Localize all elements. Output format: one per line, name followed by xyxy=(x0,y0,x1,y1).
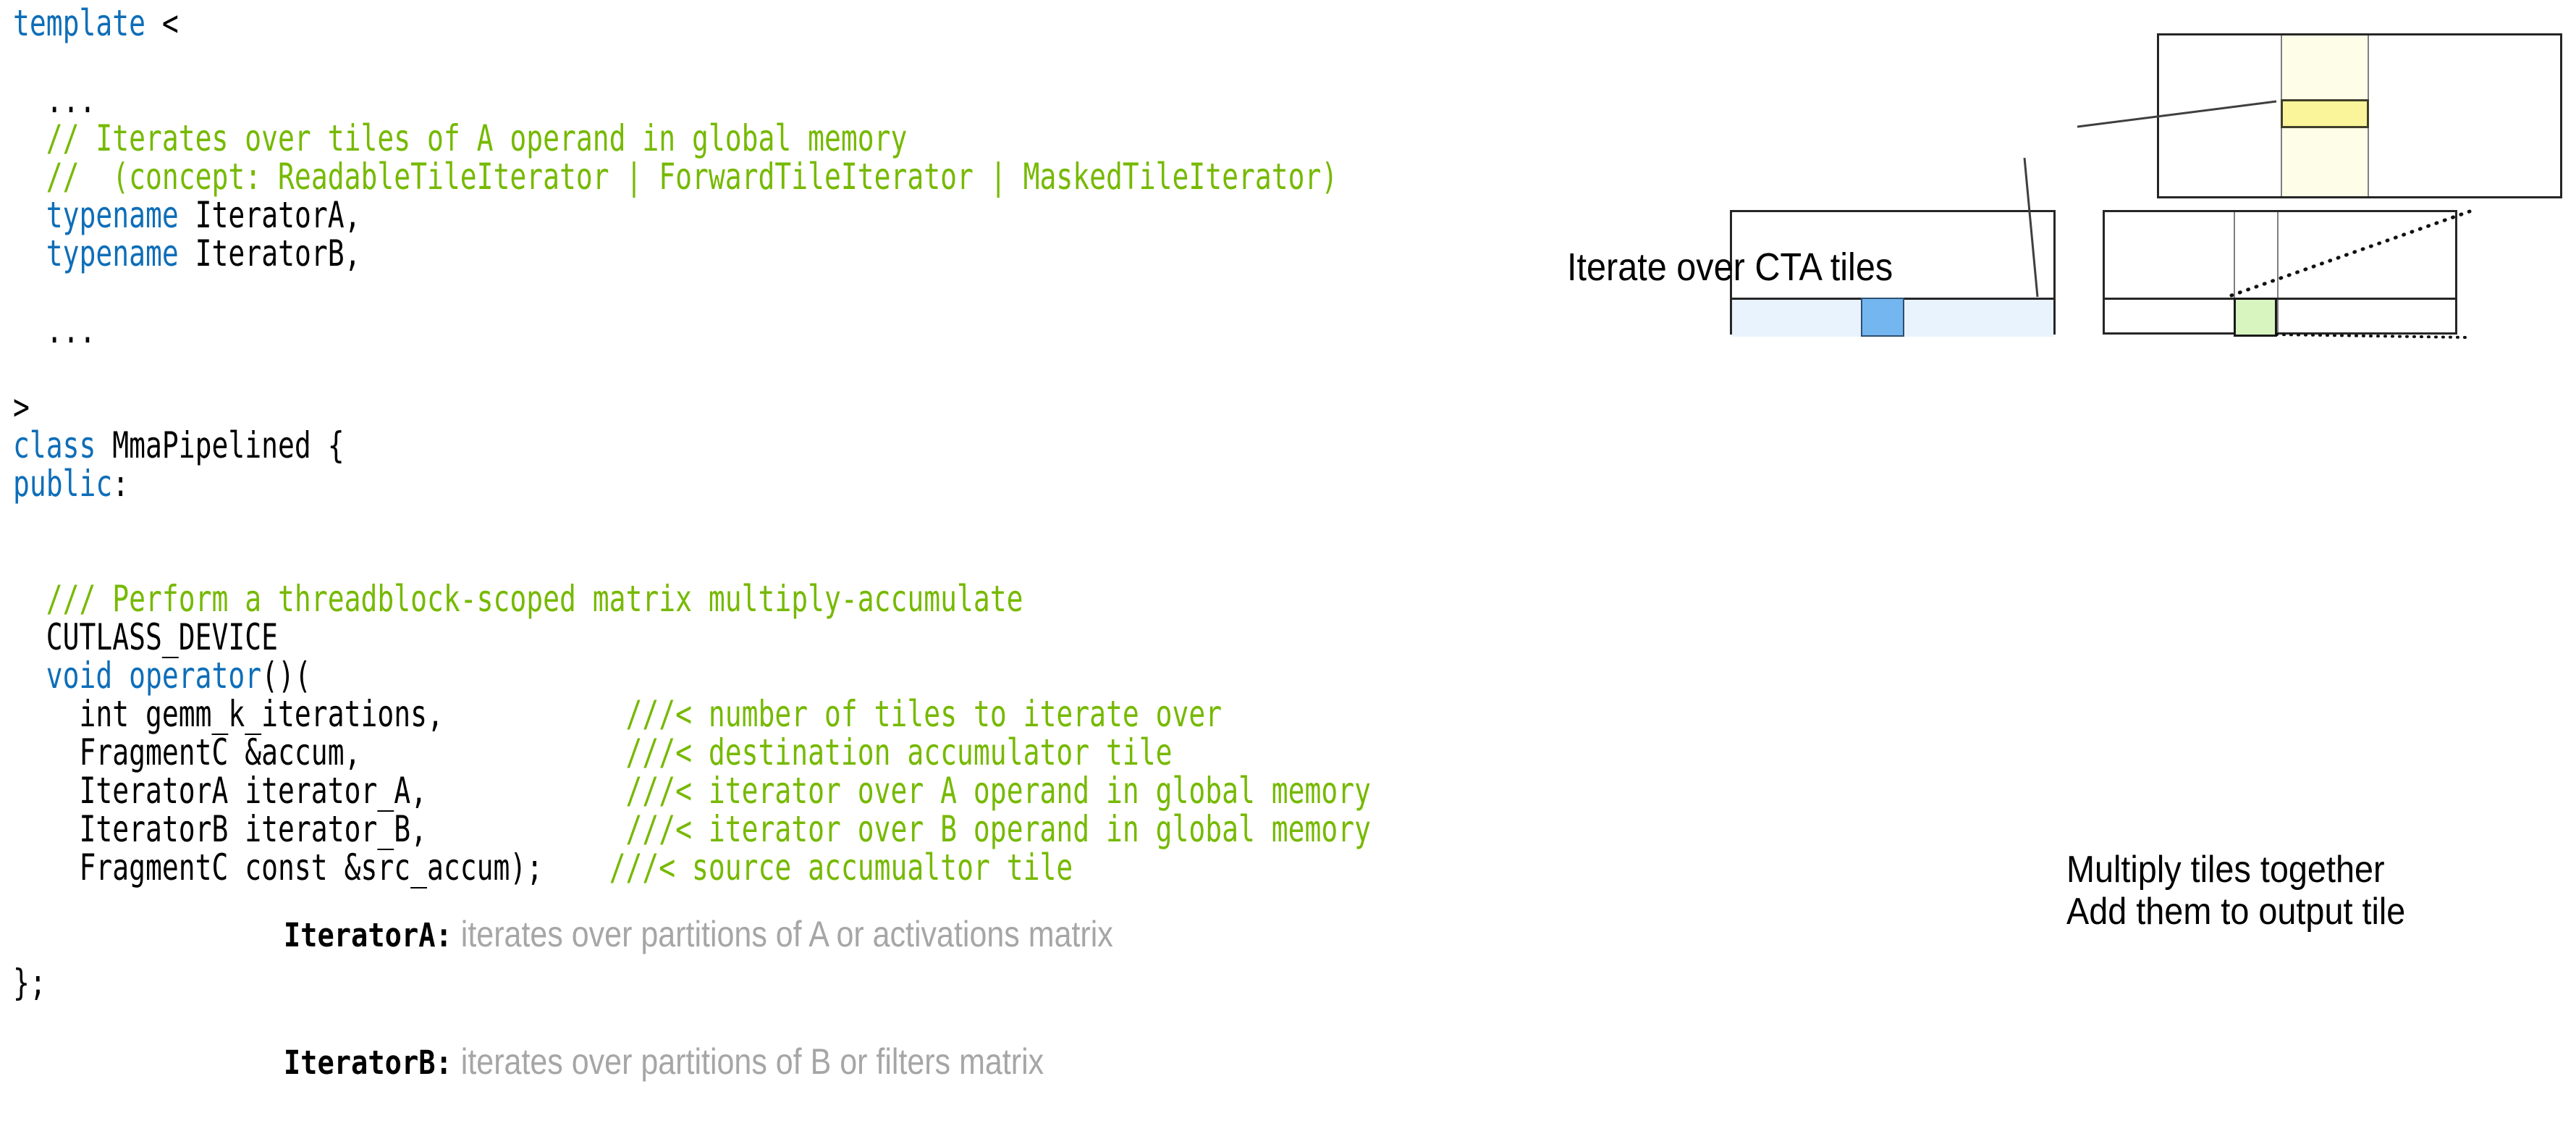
code-token-id: > xyxy=(13,386,30,428)
code-token-id: IteratorA iterator_A, xyxy=(80,770,427,812)
diagram-output-tile xyxy=(2103,210,2457,335)
code-token-id xyxy=(427,808,626,850)
code-token-kw: public xyxy=(13,463,112,505)
code-line: IteratorA iterator_A, ///< iterator over… xyxy=(13,772,1289,810)
b-operand-active-cta-tile xyxy=(2281,99,2369,128)
code-token-id xyxy=(360,731,625,773)
legend-name-iterator-b: IteratorB: xyxy=(284,1043,452,1082)
code-token-cmt: ///< destination accumulator tile xyxy=(625,731,1172,773)
code-token-id: IteratorA, xyxy=(195,194,361,236)
output-divider-horizontal xyxy=(2105,298,2455,300)
code-line xyxy=(13,350,1289,388)
code-line: void operator()( xyxy=(13,657,1289,695)
code-line: ... xyxy=(13,81,1289,119)
code-token-id: ... xyxy=(46,309,96,351)
code-token-kw: typename xyxy=(46,232,195,274)
code-line xyxy=(13,273,1289,311)
tile-diagram-group xyxy=(1694,0,2576,989)
code-listing: template < ... // Iterates over tiles of… xyxy=(13,4,1692,815)
code-token-id: ... xyxy=(46,79,96,121)
legend-row-iterator-b: IteratorB: iterates over partitions of B… xyxy=(250,999,1432,1126)
code-line xyxy=(13,542,1289,580)
code-token-cmt: ///< iterator over B operand in global m… xyxy=(625,808,1371,850)
code-token-id: CUTLASS_DEVICE xyxy=(46,616,278,658)
code-token-id: FragmentC &accum, xyxy=(80,731,361,773)
code-line: > xyxy=(13,388,1289,427)
code-token-id xyxy=(427,770,626,812)
code-line: template < xyxy=(13,4,1289,43)
code-line: // (concept: ReadableTileIterator | Forw… xyxy=(13,158,1289,196)
code-token-id: ()( xyxy=(261,655,311,697)
cta-tiles-label: Iterate over CTA tiles xyxy=(1567,245,1893,290)
code-line: FragmentC &accum, ///< destination accum… xyxy=(13,734,1289,772)
code-token-kw: void operator xyxy=(46,655,261,697)
code-line: ... xyxy=(13,311,1289,350)
code-line xyxy=(13,503,1289,542)
code-token-cmt: ///< iterator over A operand in global m… xyxy=(625,770,1371,812)
code-line: typename IteratorB, xyxy=(13,235,1289,273)
code-token-id xyxy=(444,693,626,735)
legend-row-iterator-a: IteratorA: iterates over partitions of A… xyxy=(250,871,1432,999)
a-operand-active-cta-tile xyxy=(1861,298,1904,337)
code-token-id: IteratorB, xyxy=(195,232,361,274)
code-token-id: < xyxy=(162,2,179,44)
code-line: int gemm_k_iterations, ///< number of ti… xyxy=(13,695,1289,734)
code-line: CUTLASS_DEVICE xyxy=(13,618,1289,657)
multiply-caption-line-2: Add them to output tile xyxy=(2066,891,2405,933)
code-token-id: int gemm_k_iterations, xyxy=(80,693,444,735)
code-token-id: }; xyxy=(13,962,46,1004)
code-token-id: MmaPipelined { xyxy=(112,424,344,466)
code-token-kw: template xyxy=(13,2,162,44)
code-token-id: : xyxy=(112,463,129,505)
code-token-id: IteratorB iterator_B, xyxy=(80,808,427,850)
dotted-baseline xyxy=(2276,335,2468,337)
code-line: IteratorB iterator_B, ///< iterator over… xyxy=(13,810,1289,849)
code-token-cmt: ///< number of tiles to iterate over xyxy=(626,693,1222,735)
code-line: class MmaPipelined { xyxy=(13,427,1289,465)
code-line: typename IteratorA, xyxy=(13,196,1289,235)
multiply-caption: Multiply tiles together Add them to outp… xyxy=(2066,849,2405,933)
legend-name-iterator-a: IteratorA: xyxy=(284,916,452,954)
code-line: // Iterates over tiles of A operand in g… xyxy=(13,119,1289,158)
diagram-b-operand-tile xyxy=(2157,33,2562,198)
code-line xyxy=(13,43,1289,81)
code-token-cmt: // (concept: ReadableTileIterator | Forw… xyxy=(46,156,1338,198)
multiply-caption-line-1: Multiply tiles together xyxy=(2066,849,2405,891)
legend-desc-iterator-b: iterates over partitions of B or filters… xyxy=(452,1041,1044,1082)
code-line: public: xyxy=(13,465,1289,503)
code-line: /// Perform a threadblock-scoped matrix … xyxy=(13,580,1289,618)
output-active-accumulator-tile xyxy=(2234,298,2277,337)
code-token-cmt: /// Perform a threadblock-scoped matrix … xyxy=(46,578,1023,620)
output-divider-right xyxy=(2277,212,2279,332)
legend-desc-iterator-a: iterates over partitions of A or activat… xyxy=(452,914,1113,954)
code-token-cmt: // Iterates over tiles of A operand in g… xyxy=(46,117,908,159)
iterator-legend: IteratorA: iterates over partitions of A… xyxy=(250,871,1625,1126)
code-token-kw: typename xyxy=(46,194,195,236)
code-token-kw: class xyxy=(13,424,112,466)
